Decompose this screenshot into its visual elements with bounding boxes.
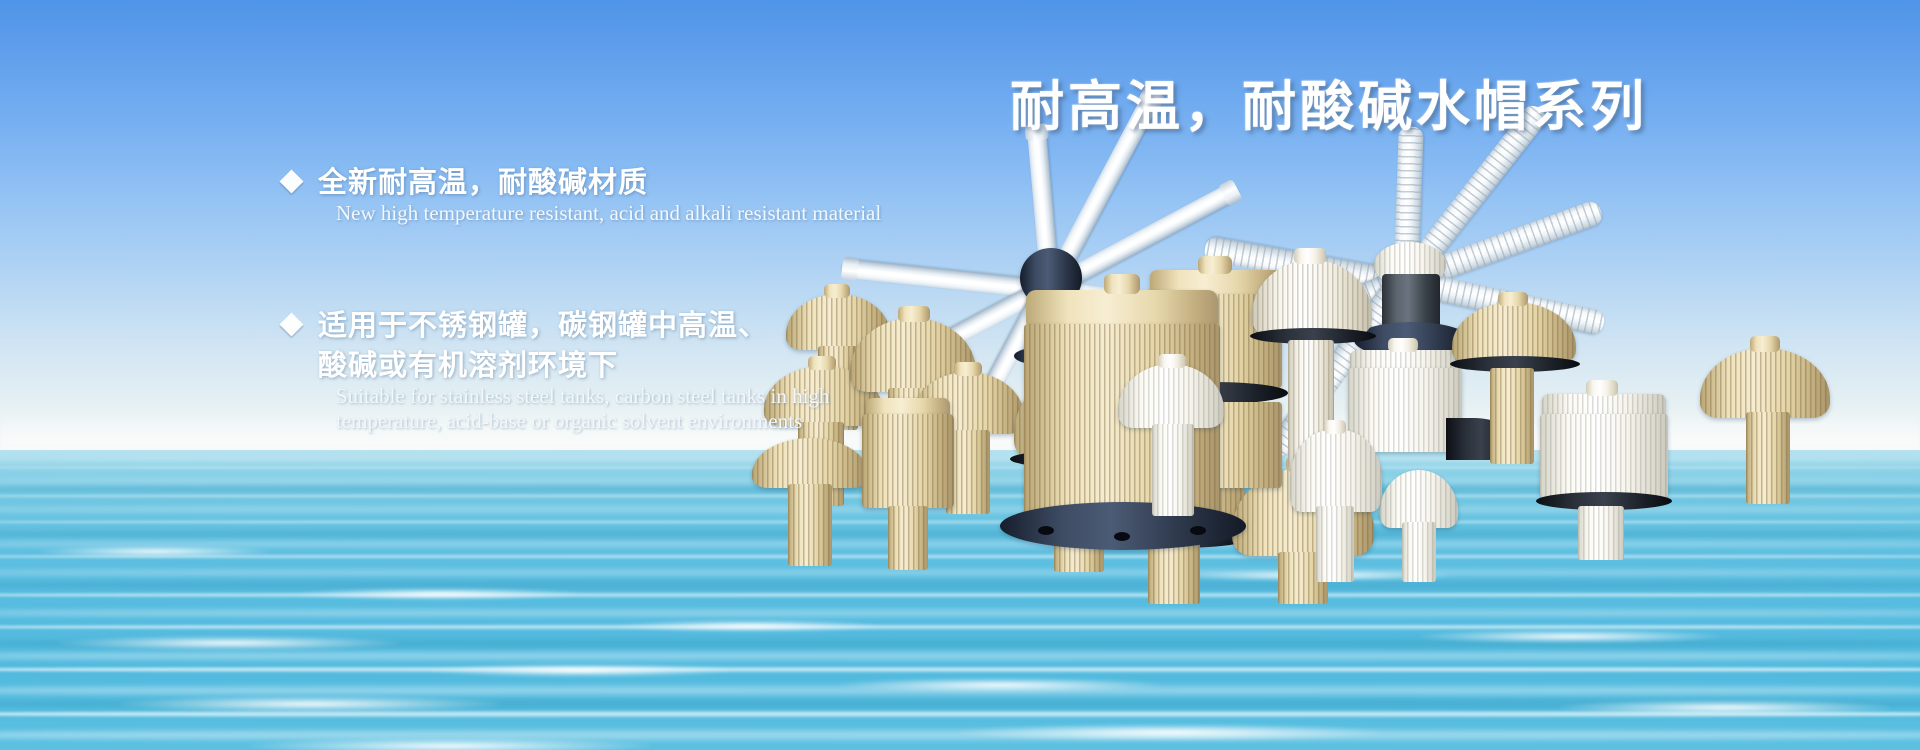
navy-flange-bolt-hole bbox=[1190, 526, 1206, 535]
water-cap-beige-knob bbox=[824, 284, 850, 298]
water-cap-white-stem bbox=[1402, 522, 1436, 582]
white-filter-body bbox=[1540, 414, 1668, 498]
water-cap-beige-stem bbox=[1490, 368, 1534, 464]
large-filter-knob bbox=[1104, 274, 1140, 294]
water-cap-white-dome bbox=[1380, 470, 1458, 528]
white-filter-knob bbox=[1388, 338, 1418, 352]
white-filter-stem bbox=[1578, 506, 1624, 560]
page-title: 耐高温，耐酸碱水帽系列 bbox=[1010, 62, 1648, 141]
water-cap-beige-stem bbox=[788, 484, 832, 566]
water-cap-white-knob bbox=[1294, 248, 1326, 264]
large-filter-navy-base-flange bbox=[1000, 502, 1246, 550]
navy-flange-bolt-hole bbox=[1114, 532, 1130, 541]
white-filter-knob bbox=[1586, 380, 1618, 396]
water-cap-beige-stem bbox=[888, 506, 928, 570]
water-cap-beige-stack bbox=[862, 414, 954, 508]
feature-bullet-2-cn: 适用于不锈钢罐，碳钢罐中高温、 酸碱或有机溶剂环境下 bbox=[318, 306, 768, 386]
white-filter-top-cap bbox=[1542, 394, 1666, 416]
water-cap-beige-stem bbox=[1746, 412, 1790, 504]
navy-flange-bolt-hole bbox=[1038, 526, 1054, 535]
feature-bullet-1: 全新耐高温，耐酸碱材质 New high temperature resista… bbox=[283, 163, 881, 226]
large-filter-top-cap bbox=[1026, 290, 1218, 326]
water-cap-beige-dome bbox=[1700, 348, 1830, 418]
water-cap-beige-stem bbox=[1148, 542, 1200, 604]
feature-bullet-2-en: Suitable for stainless steel tanks, carb… bbox=[336, 384, 829, 434]
stacked-filter-knob bbox=[1198, 256, 1232, 274]
water-cap-white-stem bbox=[1316, 506, 1354, 582]
water-cap-beige-knob bbox=[1498, 292, 1528, 306]
feature-bullet-2: 适用于不锈钢罐，碳钢罐中高温、 酸碱或有机溶剂环境下 Suitable for … bbox=[283, 306, 829, 434]
water-cap-beige-knob bbox=[898, 306, 930, 322]
water-cap-beige-knob bbox=[1750, 336, 1780, 352]
feature-bullet-1-cn: 全新耐高温，耐酸碱材质 bbox=[318, 163, 648, 203]
feature-bullet-1-en: New high temperature resistant, acid and… bbox=[336, 201, 881, 226]
water-cap-white-stem bbox=[1152, 424, 1194, 516]
water-cap-white-knob bbox=[1158, 354, 1186, 368]
diamond-bullet-icon bbox=[279, 312, 303, 336]
product-cluster-photo bbox=[860, 150, 1920, 650]
banner-image: 耐高温，耐酸碱水帽系列 全新耐高温，耐酸碱材质 New high tempera… bbox=[0, 0, 1920, 750]
diamond-bullet-icon bbox=[279, 169, 303, 193]
water-cap-white-knob bbox=[1324, 420, 1346, 434]
water-cap-beige-knob bbox=[954, 362, 982, 376]
white-filter-top-cap bbox=[1350, 350, 1460, 370]
water-cap-white-dome bbox=[1290, 430, 1382, 512]
